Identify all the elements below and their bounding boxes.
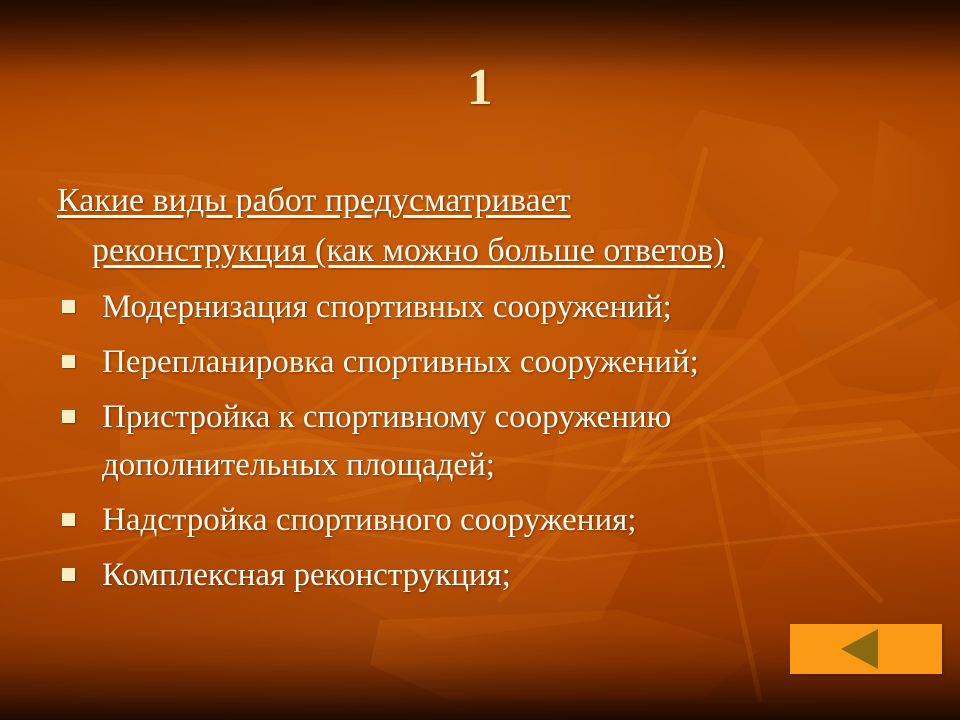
back-navigation-button[interactable]	[790, 624, 942, 674]
slide-title-number: 1	[0, 58, 960, 117]
list-item: Надстройка спортивного сооружения;	[52, 496, 928, 544]
square-bullet-icon	[62, 355, 75, 368]
list-item: Модернизация спортивных сооружений;	[52, 283, 928, 331]
list-item-label: Пристройка к спортивному сооружению допо…	[102, 393, 862, 489]
list-item: Комплексная реконструкция;	[52, 551, 928, 599]
list-item-label: Надстройка спортивного сооружения;	[102, 496, 636, 544]
slide-body: Какие виды работ предусматривает реконст…	[52, 176, 928, 599]
question-heading-line-2: реконструкция (как можно больше ответов)	[52, 226, 928, 276]
square-bullet-icon	[62, 513, 75, 526]
list-item: Перепланировка спортивных сооружений;	[52, 338, 928, 386]
list-item-label: Перепланировка спортивных сооружений;	[102, 338, 699, 386]
square-bullet-icon	[62, 410, 75, 423]
list-item: Пристройка к спортивному сооружению допо…	[52, 393, 928, 489]
square-bullet-icon	[62, 300, 75, 313]
presentation-slide: 1 Какие виды работ предусматривает рекон…	[0, 0, 960, 720]
list-item-label: Комплексная реконструкция;	[102, 551, 511, 599]
square-bullet-icon	[62, 568, 75, 581]
list-item-label: Модернизация спортивных сооружений;	[102, 283, 672, 331]
triangle-left-icon	[841, 629, 878, 669]
question-heading-line-1: Какие виды работ предусматривает	[52, 176, 928, 226]
